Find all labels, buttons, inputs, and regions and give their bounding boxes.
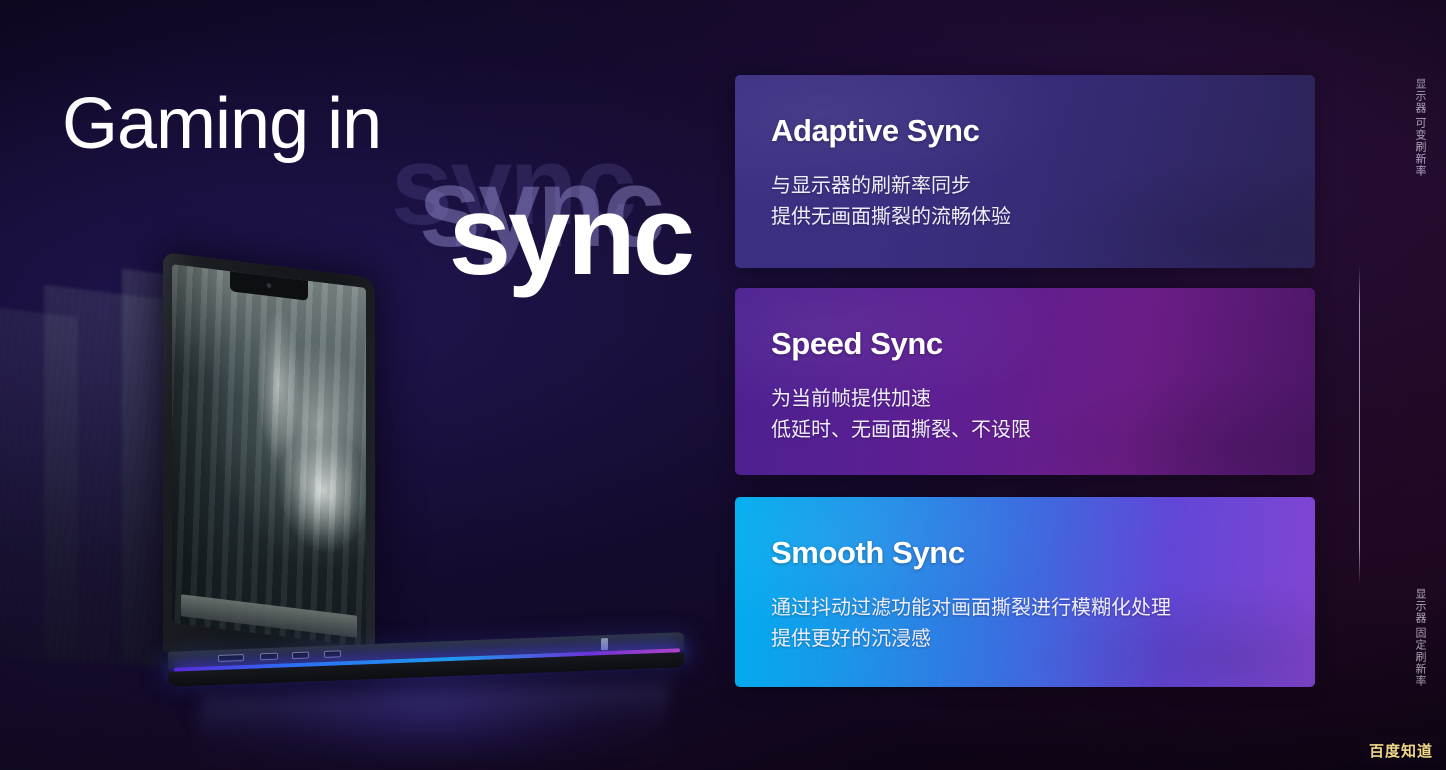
card-description-line-2: 提供更好的沉浸感 bbox=[771, 624, 1315, 655]
card-texture-overlay bbox=[735, 288, 1315, 475]
laptop-reflection bbox=[200, 682, 670, 770]
watermark-badge: 百度知道 bbox=[1362, 737, 1440, 764]
card-description: 为当前帧提供加速 低延时、无画面撕裂、不设限 bbox=[771, 384, 1315, 446]
usb-port-icon bbox=[260, 653, 278, 661]
card-description-line-2: 低延时、无画面撕裂、不设限 bbox=[771, 415, 1315, 446]
side-label-line-2: 显示器 bbox=[1411, 78, 1428, 114]
side-label-pair: 可变刷新率 显示器 bbox=[1411, 78, 1428, 177]
headline-line-2: sync bbox=[449, 180, 692, 292]
side-divider-rule bbox=[1359, 266, 1360, 584]
card-description: 与显示器的刷新率同步 提供无画面撕裂的流畅体验 bbox=[771, 171, 1315, 233]
laptop-lid bbox=[163, 252, 375, 678]
side-label-line-1: 固定刷新率 bbox=[1411, 627, 1428, 687]
card-description: 通过抖动过滤功能对画面撕裂进行模糊化处理 提供更好的沉浸感 bbox=[771, 593, 1315, 655]
card-description-line-1: 为当前帧提供加速 bbox=[771, 384, 1315, 415]
feature-card-adaptive-sync[interactable]: Adaptive Sync 与显示器的刷新率同步 提供无画面撕裂的流畅体验 bbox=[735, 75, 1315, 268]
side-label-line-2: 显示器 bbox=[1411, 588, 1428, 624]
card-description-line-2: 提供无画面撕裂的流畅体验 bbox=[771, 202, 1315, 233]
card-title: Speed Sync bbox=[771, 326, 1315, 362]
laptop-screen bbox=[172, 264, 366, 647]
vent-icon bbox=[601, 638, 608, 650]
hdmi-port-icon bbox=[218, 654, 244, 662]
page-title: Gaming in sync sync sync bbox=[62, 88, 682, 284]
usbc-port-icon bbox=[292, 651, 309, 659]
feature-card-list: Adaptive Sync 与显示器的刷新率同步 提供无画面撕裂的流畅体验 Sp… bbox=[735, 75, 1315, 687]
feature-card-smooth-sync[interactable]: Smooth Sync 通过抖动过滤功能对画面撕裂进行模糊化处理 提供更好的沉浸… bbox=[735, 497, 1315, 687]
side-label-pair: 固定刷新率 显示器 bbox=[1411, 588, 1428, 687]
card-description-line-1: 通过抖动过滤功能对画面撕裂进行模糊化处理 bbox=[771, 593, 1315, 624]
headline-ghost-wrapper: sync sync sync bbox=[62, 164, 682, 284]
card-texture-overlay bbox=[735, 497, 1315, 687]
card-title: Adaptive Sync bbox=[771, 113, 1315, 149]
laptop-artwork bbox=[0, 250, 720, 720]
card-description-line-1: 与显示器的刷新率同步 bbox=[771, 171, 1315, 202]
screen-game-scene bbox=[172, 264, 366, 647]
card-title: Smooth Sync bbox=[771, 535, 1315, 571]
slide-stage: Gaming in sync sync sync Adaptive Sync 与… bbox=[0, 0, 1446, 770]
side-label-variable-refresh: 可变刷新率 显示器 bbox=[1411, 78, 1428, 177]
aux-port-icon bbox=[324, 650, 341, 658]
side-label-line-1: 可变刷新率 bbox=[1411, 117, 1428, 177]
side-label-fixed-refresh: 固定刷新率 显示器 bbox=[1411, 588, 1428, 687]
feature-card-speed-sync[interactable]: Speed Sync 为当前帧提供加速 低延时、无画面撕裂、不设限 bbox=[735, 288, 1315, 475]
